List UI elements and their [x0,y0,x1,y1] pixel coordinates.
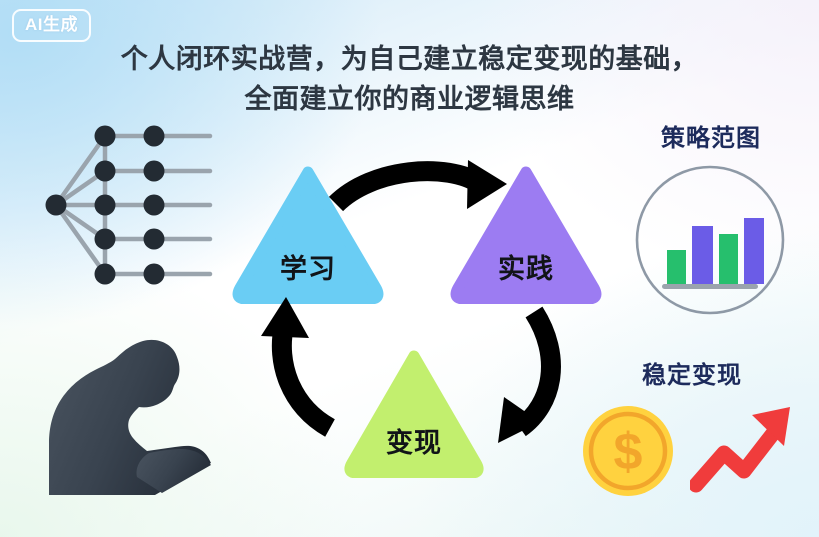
page-title: 个人闭环实战营，为自己建立稳定变现的基础， 全面建立你的商业逻辑思维 [0,40,819,119]
dollar-coin-icon: $ [580,403,676,499]
page-title-line-1: 个人闭环实战营，为自己建立稳定变现的基础， [0,40,819,80]
trend-up-arrow-icon [690,397,802,497]
chart-bar-1 [667,250,686,284]
cycle-node-practice-label: 实践 [498,247,554,286]
strategy-chart-title: 策略范图 [616,118,806,153]
cycle-node-learn[interactable]: 学习 [232,166,384,304]
dollar-sign-glyph: $ [614,423,643,481]
bar-chart-circle-icon [634,164,786,316]
stable-monetization-widget: 稳定变现 $ [578,355,806,505]
chart-bar-3 [719,234,738,284]
stable-monetization-title: 稳定变现 [578,355,806,390]
ai-generated-badge: AI生成 [12,9,91,42]
network-tree-svg [38,125,213,285]
trend-up-arrow-svg [690,397,802,497]
cycle-node-monetize-label: 变现 [386,421,442,460]
curved-arrow-up-left-icon [261,297,330,428]
cycle-node-monetize[interactable]: 变现 [344,350,484,478]
bar-chart-svg [634,164,786,316]
network-tree-icon [38,125,213,285]
page-title-line-2: 全面建立你的商业逻辑思维 [0,80,819,120]
cycle-node-practice[interactable]: 实践 [450,166,602,304]
strategy-chart-widget: 策略范图 [616,118,806,313]
learning-cycle-diagram: 学习 实践 变现 [232,160,602,490]
ai-generated-badge-label: AI生成 [25,15,78,34]
poster-canvas: AI生成 个人闭环实战营，为自己建立稳定变现的基础， 全面建立你的商业逻辑思维 [0,0,819,537]
person-reading-svg [25,335,240,525]
dollar-coin-svg: $ [580,403,676,499]
chart-bar-2 [692,226,713,284]
cycle-node-learn-label: 学习 [280,247,336,286]
person-reading-silhouette-icon [25,335,240,525]
chart-bar-4 [744,218,764,284]
curved-arrow-down-left-icon [498,312,551,443]
